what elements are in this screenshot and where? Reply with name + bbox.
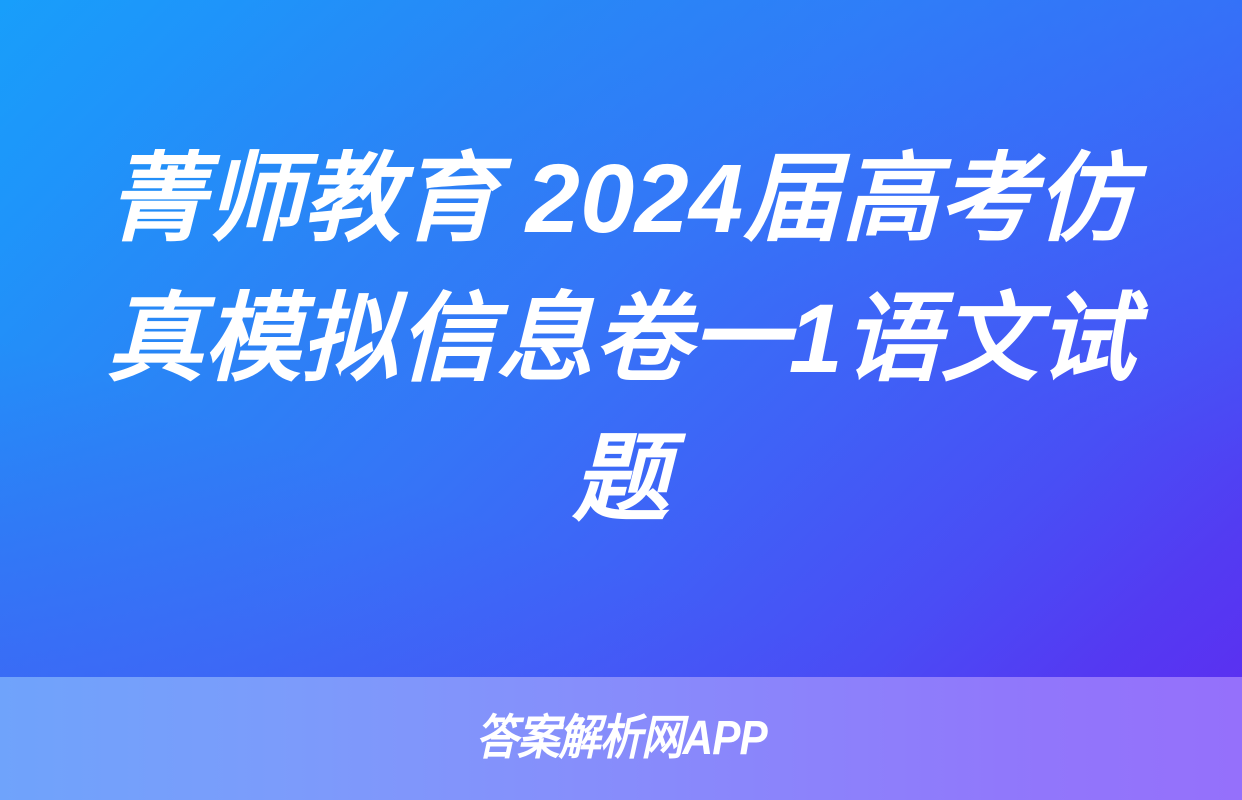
page-title: 菁师教育 2024届高考仿真模拟信息卷一1语文试题 <box>76 129 1166 549</box>
watermark-text: 答案解析网APP <box>475 715 766 763</box>
footer-watermark-band: 答案解析网APP <box>0 677 1242 800</box>
hero-content: 菁师教育 2024届高考仿真模拟信息卷一1语文试题 <box>0 129 1242 549</box>
poster-card: 菁师教育 2024届高考仿真模拟信息卷一1语文试题 答案解析网APP <box>0 0 1242 800</box>
hero-banner: 菁师教育 2024届高考仿真模拟信息卷一1语文试题 <box>0 0 1242 677</box>
